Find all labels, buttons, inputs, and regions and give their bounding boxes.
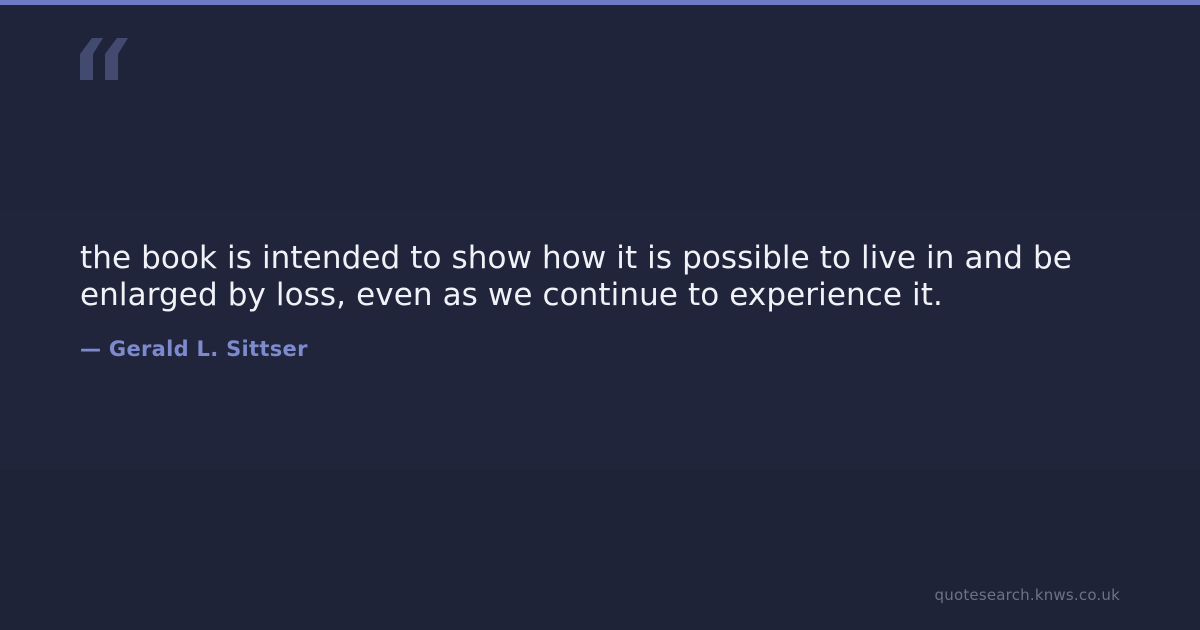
quote-body: the book is intended to show how it is p… [80, 240, 1120, 362]
quote-attribution: — Gerald L. Sittser [80, 314, 1120, 362]
quote-card: the book is intended to show how it is p… [0, 0, 1200, 630]
double-quote-icon [80, 38, 132, 80]
top-accent-bar [0, 0, 1200, 5]
site-watermark: quotesearch.knws.co.uk [935, 586, 1120, 604]
background-band-upper [0, 5, 1200, 210]
quote-text: the book is intended to show how it is p… [80, 240, 1120, 314]
